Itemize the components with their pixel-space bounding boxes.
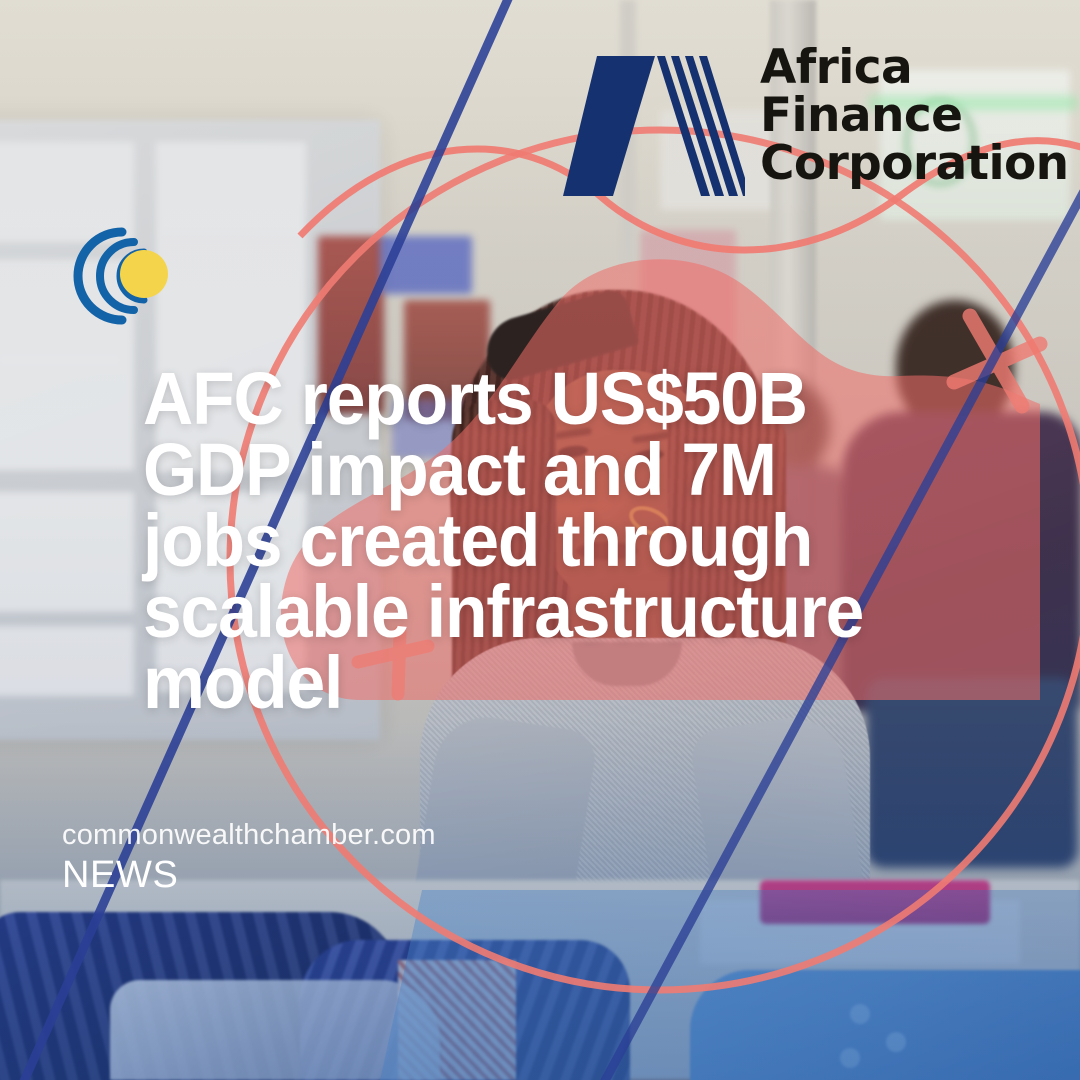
- africa-finance-corporation-logo: Africa Finance Corporation: [505, 42, 1065, 212]
- page-title: AFC reports US$50B GDP impact and 7M job…: [143, 363, 923, 718]
- section-label: NEWS: [62, 854, 436, 897]
- site-url[interactable]: commonwealthchamber.com: [62, 820, 436, 852]
- afc-a-mark-icon: [505, 50, 745, 200]
- commonwealth-chamber-logo: [66, 218, 192, 334]
- afc-wordmark: Africa Finance Corporation: [760, 44, 1069, 188]
- social-news-card: GDIZ: [0, 0, 1080, 1080]
- footer-block: commonwealthchamber.com NEWS: [62, 820, 436, 896]
